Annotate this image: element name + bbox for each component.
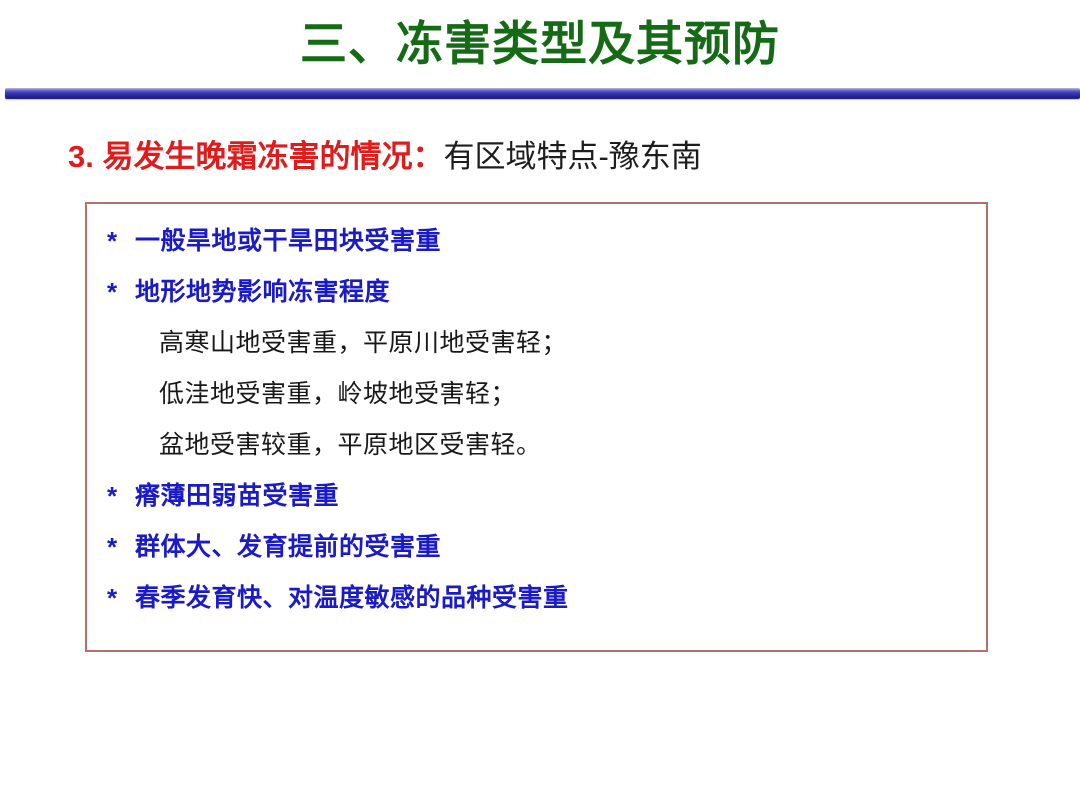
asterisk-bullet-icon: * [87,530,135,564]
bullet-item-label: 一般旱地或干旱田块受害重 [135,224,441,258]
asterisk-bullet-icon: * [87,479,135,513]
bullet-item-label: 群体大、发育提前的受害重 [135,530,441,564]
subtitle-rest: 有区域特点-豫东南 [443,139,701,174]
asterisk-bullet-icon: * [87,275,135,309]
bullet-item: *春季发育快、对温度敏感的品种受害重 [87,581,986,632]
bullet-item-label: 地形地势影响冻害程度 [135,275,390,309]
bullet-item-label: 瘠薄田弱苗受害重 [135,479,339,513]
sub-item-label: 高寒山地受害重，平原川地受害轻； [159,326,986,377]
sub-item-label: 盆地受害较重，平原地区受害轻。 [159,428,986,479]
subtitle-highlight: 3. 易发生晚霜冻害的情况： [68,139,443,174]
bullet-item-label: 春季发育快、对温度敏感的品种受害重 [135,581,569,615]
title-divider-bar [5,88,1080,99]
slide-canvas: 三、冻害类型及其预防 3. 易发生晚霜冻害的情况：有区域特点-豫东南 *一般旱地… [0,0,1080,810]
asterisk-bullet-icon: * [87,224,135,258]
bullet-item: *地形地势影响冻害程度 [87,275,986,326]
bullet-item: *一般旱地或干旱田块受害重 [87,224,986,275]
content-box: *一般旱地或干旱田块受害重*地形地势影响冻害程度高寒山地受害重，平原川地受害轻；… [85,202,988,652]
slide-title-row: 三、冻害类型及其预防 [0,16,1080,72]
content-list: *一般旱地或干旱田块受害重*地形地势影响冻害程度高寒山地受害重，平原川地受害轻；… [87,204,986,632]
asterisk-bullet-icon: * [87,581,135,615]
bullet-item: *瘠薄田弱苗受害重 [87,479,986,530]
sub-item-label: 低洼地受害重，岭坡地受害轻； [159,377,986,428]
section-subtitle: 3. 易发生晚霜冻害的情况：有区域特点-豫东南 [68,137,702,177]
page-title: 三、冻害类型及其预防 [300,16,780,72]
bullet-item: *群体大、发育提前的受害重 [87,530,986,581]
